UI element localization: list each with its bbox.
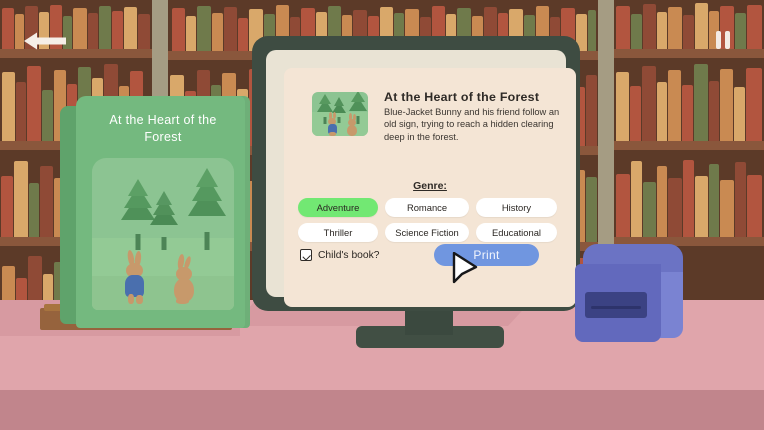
genre-option-history[interactable]: History — [476, 198, 557, 217]
shelf-row — [614, 58, 764, 150]
childs-book-row[interactable]: Child's book? — [300, 249, 380, 261]
genre-option-science-fiction[interactable]: Science Fiction — [385, 223, 469, 242]
bunny-blue-jacket — [118, 250, 154, 304]
book-header: At the Heart of the Forest Blue-Jacket B… — [310, 90, 574, 143]
arrow-left-icon — [20, 30, 70, 52]
genre-options: Adventure Romance History Thriller Scien… — [298, 198, 564, 242]
mouse-cursor — [452, 252, 478, 284]
shelf-row — [614, 0, 764, 58]
book-title: At the Heart of the Forest — [384, 90, 574, 104]
childs-book-checkbox[interactable] — [300, 249, 312, 261]
genre-label: Genre: — [284, 180, 576, 192]
printer-slot-line — [591, 306, 641, 309]
game-scene: At the Heart of the Forest — [0, 0, 764, 430]
monitor-inner-frame: At the Heart of the Forest Blue-Jacket B… — [266, 50, 566, 297]
bunny-friend-icon — [346, 113, 361, 136]
book-cover-illustration — [92, 158, 234, 310]
genre-option-adventure[interactable]: Adventure — [298, 198, 378, 217]
computer-monitor: At the Heart of the Forest Blue-Jacket B… — [252, 36, 580, 311]
genre-option-educational[interactable]: Educational — [476, 223, 557, 242]
book-description: Blue-Jacket Bunny and his friend follow … — [384, 106, 574, 143]
book-meta: At the Heart of the Forest Blue-Jacket B… — [384, 90, 574, 143]
book-cover-thumbnail — [310, 90, 370, 138]
shelf-row — [614, 150, 764, 246]
pause-icon — [716, 31, 721, 49]
book-cover: At the Heart of the Forest — [76, 96, 250, 328]
tree-icon — [184, 176, 230, 250]
monitor-screen[interactable]: At the Heart of the Forest Blue-Jacket B… — [284, 68, 576, 307]
printer-paper-slot — [585, 292, 647, 318]
bunny-blue-jacket-icon — [325, 112, 341, 136]
printer[interactable] — [575, 244, 683, 342]
pause-button[interactable] — [716, 31, 732, 49]
cursor-arrow-icon — [452, 252, 478, 284]
print-button[interactable]: Print — [434, 244, 539, 266]
desk-front-edge — [0, 390, 764, 430]
pause-icon — [725, 31, 730, 49]
tree-icon — [148, 196, 180, 250]
genre-option-romance[interactable]: Romance — [385, 198, 469, 217]
genre-option-thriller[interactable]: Thriller — [298, 223, 378, 242]
book-cover-title: At the Heart of the Forest — [90, 112, 236, 146]
displayed-book[interactable]: At the Heart of the Forest — [60, 96, 250, 331]
bunny-friend — [170, 254, 204, 304]
childs-book-label: Child's book? — [318, 250, 380, 261]
back-button[interactable] — [20, 30, 70, 52]
